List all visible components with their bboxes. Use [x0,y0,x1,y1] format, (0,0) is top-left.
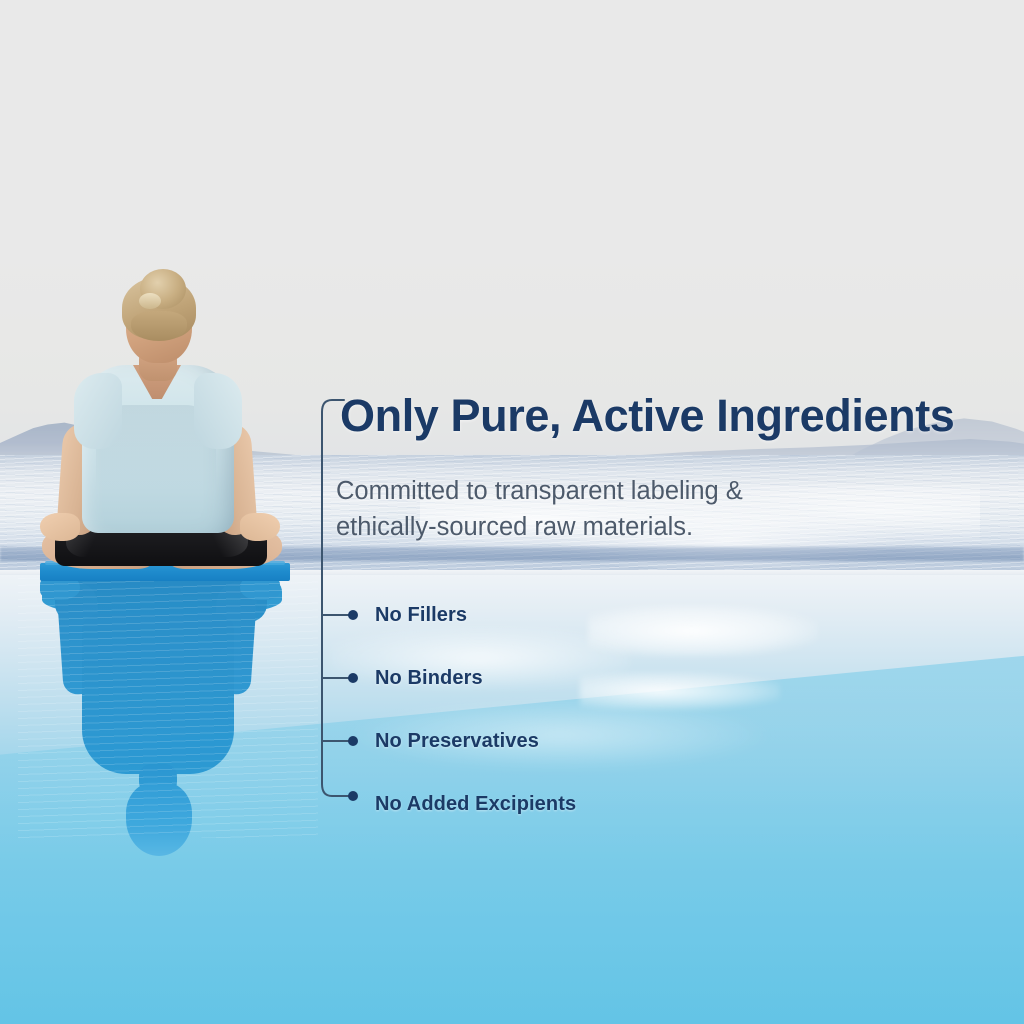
reflection-head [126,782,192,856]
hand-left-mudra [40,513,80,541]
promo-graphic: Only Pure, Active Ingredients Committed … [0,0,1024,1024]
bullet-item-no-added-excipients: No Added Excipients [375,793,576,816]
hand-right-mudra [240,513,280,541]
figure-reflection [0,578,320,828]
sleeve-right [194,373,242,449]
bullet-item-no-preservatives: No Preservatives [375,730,539,753]
hair-nape [131,311,187,341]
bullet-item-no-binders: No Binders [375,667,483,690]
subtitle-text: Committed to transparent labeling & ethi… [336,473,743,545]
page-title: Only Pure, Active Ingredients [340,390,954,442]
reflection-torso [82,614,234,774]
bullet-item-no-fillers: No Fillers [375,604,467,627]
sleeve-left [74,373,122,449]
hair-bun-tie [139,293,161,309]
meditating-woman [0,255,320,585]
